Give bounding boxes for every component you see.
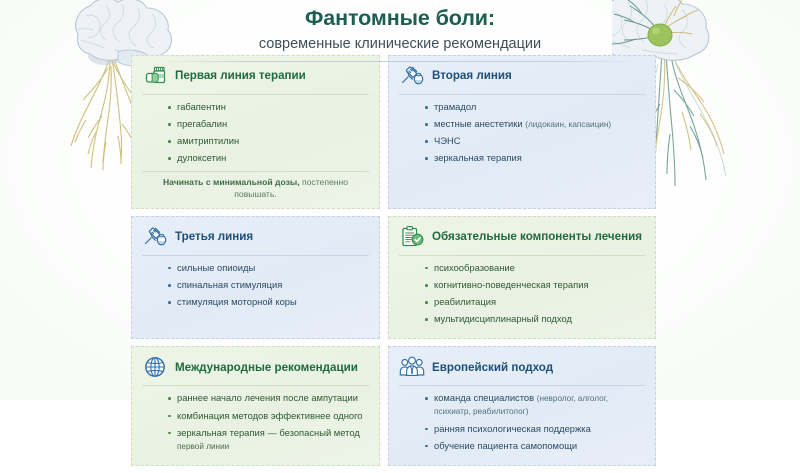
- page-header: Фантомные боли: современные клинические …: [0, 0, 800, 62]
- card-divider: [399, 385, 645, 386]
- card-header: Первая линия терапии: [142, 63, 369, 89]
- bullet-text: трамадол: [434, 101, 476, 112]
- card-row-1: Первая линия терапии габапентин прегабал…: [131, 55, 656, 209]
- list-item: зеркальная терапия: [425, 152, 645, 165]
- syringe-icon: [142, 224, 168, 250]
- bullet-text: когнитивно-поведенческая терапия: [434, 279, 589, 290]
- card-title: Первая линия терапии: [175, 69, 306, 82]
- clipboard-checklist-icon: [399, 224, 425, 250]
- card-note-strong: Начинать с минимальной дозы,: [163, 177, 300, 187]
- pill-bottle-icon: [142, 63, 168, 89]
- bullet-text: стимуляция моторной коры: [177, 296, 297, 307]
- card-mandatory-components[interactable]: Обязательные компоненты лечения психообр…: [388, 216, 656, 340]
- card-title: Обязательные компоненты лечения: [432, 230, 642, 243]
- recommendation-cards-grid: Первая линия терапии габапентин прегабал…: [131, 55, 656, 473]
- card-header: Вторая линия: [399, 63, 645, 89]
- card-european-approach[interactable]: Европейский подход команда специалистов …: [388, 346, 656, 465]
- bullet-text: дулоксетин: [177, 152, 226, 163]
- bullet-text: габапентин: [177, 101, 226, 112]
- list-item: когнитивно-поведенческая терапия: [425, 279, 645, 292]
- list-item: дулоксетин: [168, 152, 369, 165]
- list-item: обучение пациента самопомощи: [425, 440, 645, 453]
- bullet-text: зеркальная терапия: [434, 152, 522, 163]
- card-bullet-list: раннее начало лечения после ампутации ко…: [142, 392, 369, 452]
- list-item: амитриптилин: [168, 135, 369, 148]
- bullet-text: спинальная стимуляция: [177, 279, 282, 290]
- list-item: мультидисциплинарный подход: [425, 313, 645, 326]
- card-third-line[interactable]: Третья линия сильные опиоиды спинальная …: [131, 216, 380, 340]
- bullet-text: зеркальная терапия — безопасный метод: [177, 427, 360, 438]
- bullet-text: раннее начало лечения после ампутации: [177, 392, 358, 403]
- card-title: Международные рекомендации: [175, 361, 358, 374]
- bullet-text: команда специалистов: [434, 392, 537, 403]
- bullet-text: психообразование: [434, 262, 515, 273]
- card-international-recommendations[interactable]: Международные рекомендации раннее начало…: [131, 346, 380, 465]
- infographic-canvas: Фантомные боли: современные клинические …: [0, 0, 800, 400]
- card-second-line[interactable]: Вторая линия трамадол местные анестетики…: [388, 55, 656, 209]
- card-bullet-list: трамадол местные анестетики (лидокаин, к…: [399, 101, 645, 165]
- card-bullet-list: сильные опиоиды спинальная стимуляция ст…: [142, 262, 369, 309]
- list-item: ЧЭНС: [425, 135, 645, 148]
- card-divider: [142, 385, 369, 386]
- page-subtitle: современные клинические рекомендации: [0, 36, 800, 52]
- card-bullet-list: команда специалистов (невролог, алголог,…: [399, 392, 645, 452]
- bullet-text: ЧЭНС: [434, 135, 461, 146]
- list-item: реабилитация: [425, 296, 645, 309]
- list-item: местные анестетики (лидокаин, капсаицин): [425, 118, 645, 131]
- card-row-3: Международные рекомендации раннее начало…: [131, 346, 656, 465]
- list-item: прегабалин: [168, 118, 369, 131]
- globe-icon: [142, 354, 168, 380]
- header-divider: [160, 61, 640, 62]
- list-item: стимуляция моторной коры: [168, 296, 369, 309]
- bullet-text: комбинация методов эффективнее одного: [177, 410, 363, 421]
- list-item: психообразование: [425, 262, 645, 275]
- bullet-text: ранняя психологическая поддержка: [434, 423, 591, 434]
- card-title: Вторая линия: [432, 69, 512, 82]
- bullet-text: местные анестетики: [434, 118, 525, 129]
- card-note: Начинать с минимальной дозы, постепенно …: [142, 177, 369, 199]
- syringe-icon: [399, 63, 425, 89]
- list-item: трамадол: [425, 101, 645, 114]
- list-item: команда специалистов (невролог, алголог,…: [425, 392, 645, 418]
- bullet-text: обучение пациента самопомощи: [434, 440, 577, 451]
- list-item: ранняя психологическая поддержка: [425, 423, 645, 436]
- card-header: Третья линия: [142, 224, 369, 250]
- card-header: Международные рекомендации: [142, 354, 369, 380]
- card-title: Третья линия: [175, 230, 253, 243]
- bullet-text: реабилитация: [434, 296, 496, 307]
- list-item: габапентин: [168, 101, 369, 114]
- card-title: Европейский подход: [432, 361, 553, 374]
- card-bullet-list: габапентин прегабалин амитриптилин дулок…: [142, 101, 369, 165]
- list-item: зеркальная терапия — безопасный метод пе…: [168, 427, 369, 453]
- card-first-line-therapy[interactable]: Первая линия терапии габапентин прегабал…: [131, 55, 380, 209]
- card-header: Европейский подход: [399, 354, 645, 380]
- bullet-text: мультидисциплинарный подход: [434, 313, 572, 324]
- bullet-text: прегабалин: [177, 118, 227, 129]
- list-item: спинальная стимуляция: [168, 279, 369, 292]
- card-bullet-list: психообразование когнитивно-поведенческа…: [399, 262, 645, 326]
- card-row-2: Третья линия сильные опиоиды спинальная …: [131, 216, 656, 340]
- card-divider: [142, 255, 369, 256]
- list-item: сильные опиоиды: [168, 262, 369, 275]
- list-item: комбинация методов эффективнее одного: [168, 410, 369, 423]
- list-item: раннее начало лечения после ампутации: [168, 392, 369, 405]
- bullet-subtext: (лидокаин, капсаицин): [525, 120, 611, 129]
- card-note-divider: [142, 171, 369, 172]
- team-of-specialists-icon: [399, 354, 425, 380]
- page-title: Фантомные боли:: [0, 6, 800, 31]
- bullet-text: амитриптилин: [177, 135, 239, 146]
- bullet-text: сильные опиоиды: [177, 262, 255, 273]
- card-header: Обязательные компоненты лечения: [399, 224, 645, 250]
- card-divider: [399, 94, 645, 95]
- bullet-subtext: первой линии: [177, 442, 229, 451]
- card-divider: [399, 255, 645, 256]
- card-divider: [142, 94, 369, 95]
